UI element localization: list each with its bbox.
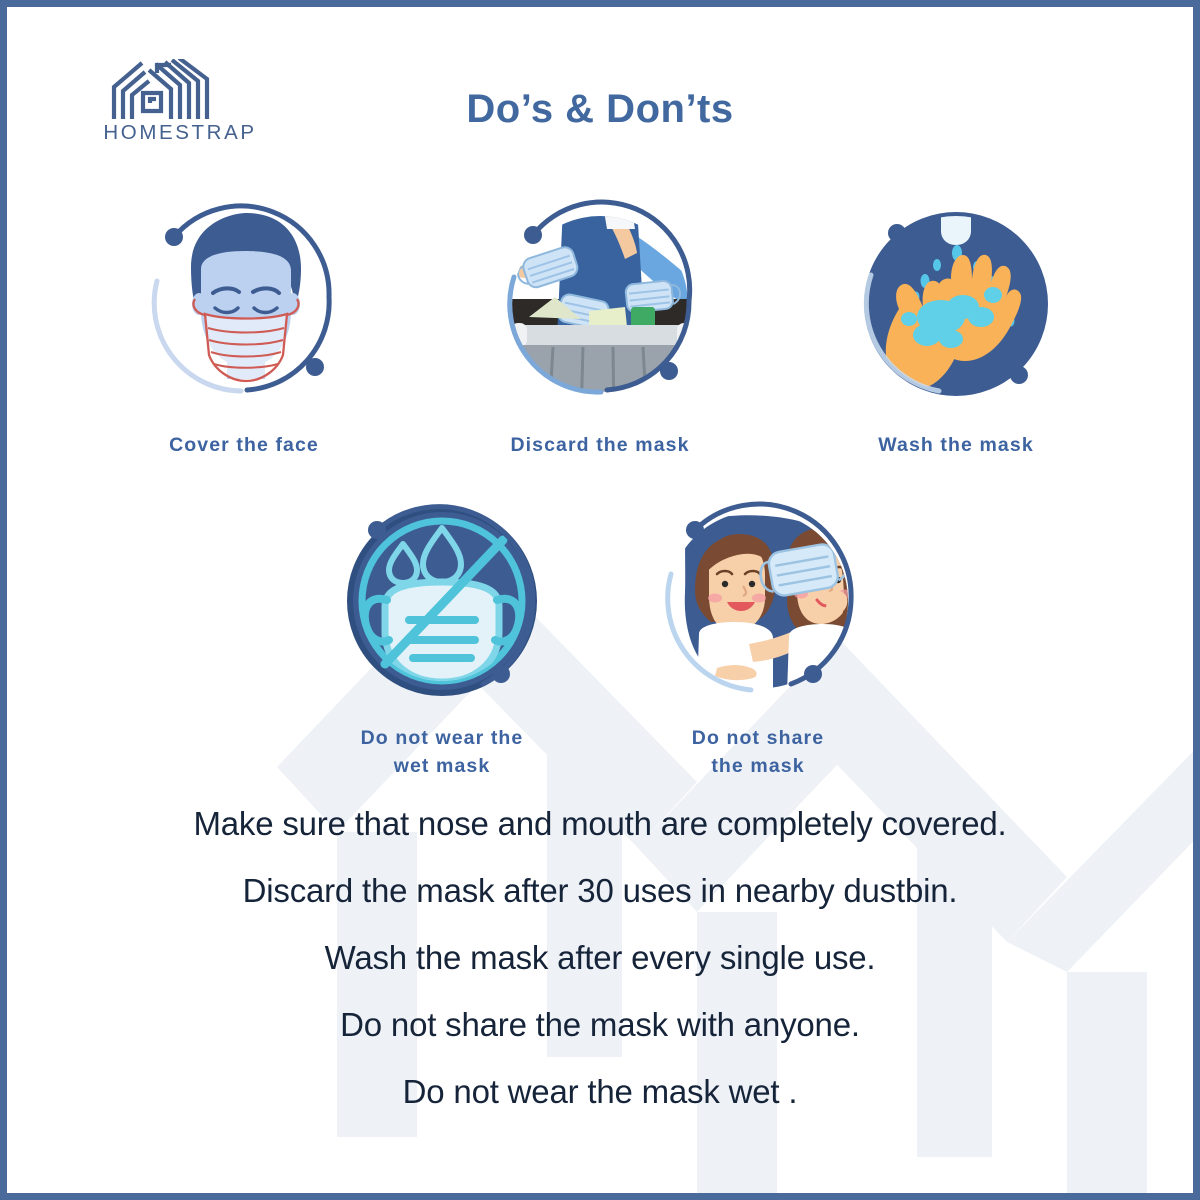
statement-item: Do not share the mask with anyone. [7,1008,1193,1041]
statement-item: Do not wear the mask wet . [7,1075,1193,1108]
icon-cell-cover-the-face[interactable]: Cover the face [115,189,373,459]
page-title: Do’s & Don’ts [7,87,1193,132]
no-wet-mask-prohibition-icon [323,482,561,720]
icon-cell-discard-the-mask[interactable]: Discard the mask [471,189,729,459]
icon-label-line1: Do not share [692,727,824,749]
icon-row-dos: Cover the face [7,189,1193,459]
statement-item: Wash the mask after every single use. [7,941,1193,974]
statement-list: Make sure that nose and mouth are comple… [7,807,1193,1108]
icon-label: Cover the face [169,431,319,459]
poster-frame: HOMESTRAP Do’s & Don’ts [0,0,1200,1200]
icon-label-line2: the mask [711,755,804,777]
statement-item: Discard the mask after 30 uses in nearby… [7,874,1193,907]
icon-label-line2: wet mask [394,755,491,777]
icon-cell-wash-the-mask[interactable]: Wash the mask [827,189,1085,459]
discard-mask-trashbin-icon [485,189,715,419]
icon-row-donts: Do not wear the wet mask [7,482,1193,781]
masked-face-icon [129,189,359,419]
icon-label: Do not wear the wet mask [361,724,524,781]
icon-label: Wash the mask [878,431,1034,459]
icon-label: Do not share the mask [692,724,824,781]
icon-cell-do-not-wear-wet-mask[interactable]: Do not wear the wet mask [313,482,571,781]
icon-label-line1: Do not wear the [361,727,524,749]
icon-label: Discard the mask [510,431,689,459]
two-people-sharing-mask-icon [639,482,877,720]
icon-cell-do-not-share-the-mask[interactable]: Do not share the mask [629,482,887,781]
washing-hands-faucet-icon [841,189,1071,419]
statement-item: Make sure that nose and mouth are comple… [7,807,1193,840]
